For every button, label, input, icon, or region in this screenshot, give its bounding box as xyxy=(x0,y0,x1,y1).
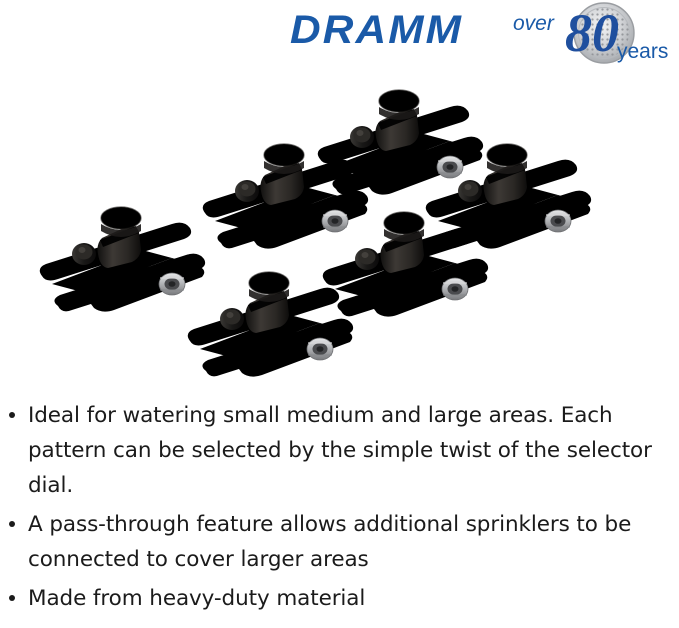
bullet-icon xyxy=(9,595,15,601)
badge-number-text: 80 xyxy=(565,3,619,63)
list-item: Ideal for watering small medium and larg… xyxy=(0,398,679,503)
red-sprinkler: g[data-name="red-sprinkler"] .p-main{fil… xyxy=(188,272,353,377)
blue-sprinkler: g[data-name="blue-sprinkler"] .p-main{fi… xyxy=(203,144,368,249)
list-item: A pass-through feature allows additional… xyxy=(0,507,679,577)
list-item: Made from heavy-duty material xyxy=(0,581,679,616)
feature-text: Made from heavy-duty material xyxy=(28,586,365,611)
feature-text: Ideal for watering small medium and larg… xyxy=(28,403,652,498)
dramm-wordmark: DRAMM xyxy=(290,6,463,54)
sprinkler-group-illustration: g[data-name="purple-sprinkler"] .p-main{… xyxy=(0,55,679,395)
bullet-icon xyxy=(9,412,15,418)
green-sprinkler: g[data-name="green-sprinkler"] .p-main{f… xyxy=(40,207,205,312)
purple-sprinkler: g[data-name="purple-sprinkler"] .p-main{… xyxy=(318,90,483,195)
features-list: Ideal for watering small medium and larg… xyxy=(0,398,679,620)
product-photo: g[data-name="purple-sprinkler"] .p-main{… xyxy=(0,55,679,395)
badge-over-text: over xyxy=(513,12,555,35)
feature-text: A pass-through feature allows additional… xyxy=(28,512,631,572)
bullet-icon xyxy=(9,521,15,527)
